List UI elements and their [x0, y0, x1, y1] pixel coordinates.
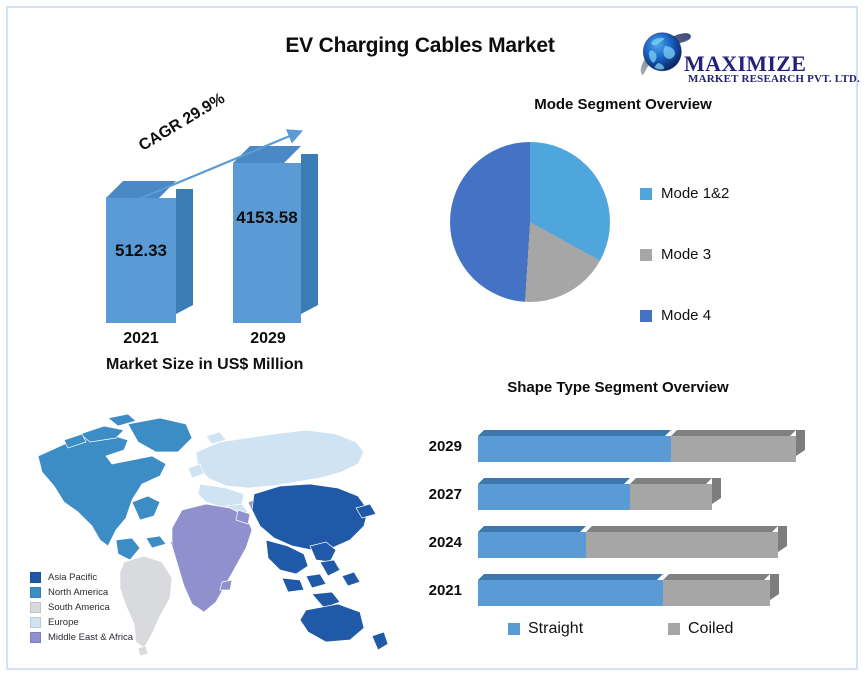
map-legend-label-north-america: North America	[48, 587, 108, 598]
shape-type-legend: Straight Coiled	[508, 620, 768, 638]
shape-segment-heading: Shape Type Segment Overview	[448, 379, 788, 396]
logo-tagline-text: MARKET RESEARCH PVT. LTD.	[688, 73, 860, 85]
stacked-seg-2029-coiled	[671, 436, 796, 462]
legend-swatch-mode-1-2	[640, 188, 652, 200]
stacked-row-2024-label: 2024	[416, 534, 462, 551]
stacked-seg-2029-straight	[478, 436, 671, 462]
stacked-cap-2021	[770, 574, 779, 600]
map-legend-swatch-middle-east-africa	[30, 632, 41, 643]
legend-label-coiled: Coiled	[688, 620, 733, 638]
map-region-north-america	[38, 414, 192, 560]
map-legend-item-north-america: North America	[30, 585, 180, 600]
map-legend-swatch-north-america	[30, 587, 41, 598]
legend-label-mode-1-2: Mode 1&2	[661, 185, 729, 202]
map-legend-item-south-america: South America	[30, 600, 180, 615]
bar-2029-category: 2029	[229, 330, 307, 348]
map-legend-label-middle-east-africa: Middle East & Africa	[48, 632, 133, 643]
page-title: EV Charging Cables Market	[270, 34, 570, 58]
stacked-row-2029-label: 2029	[416, 438, 462, 455]
stacked-seg-2027-straight	[478, 484, 630, 510]
bar-2021-value: 512.33	[102, 241, 180, 261]
map-legend-swatch-europe	[30, 617, 41, 628]
infographic-frame: EV Charging Cables Market	[6, 6, 858, 670]
stacked-cap-2024	[778, 526, 787, 552]
shape-type-stacked-bar-chart: 2029 2027	[416, 420, 816, 610]
map-legend: Asia Pacific North America South America…	[30, 570, 180, 645]
stacked-row-2027: 2027	[416, 478, 816, 512]
legend-item-mode-1-2: Mode 1&2	[640, 163, 780, 224]
stacked-seg-2024-straight	[478, 532, 586, 558]
legend-label-mode-3: Mode 3	[661, 246, 711, 263]
stacked-row-2027-label: 2027	[416, 486, 462, 503]
stacked-row-2021: 2021	[416, 574, 816, 608]
map-legend-label-south-america: South America	[48, 602, 110, 613]
market-size-axis-label: Market Size in US$ Million	[106, 356, 303, 374]
legend-swatch-coiled	[668, 623, 680, 635]
map-legend-swatch-asia-pacific	[30, 572, 41, 583]
map-legend-item-middle-east-africa: Middle East & Africa	[30, 630, 180, 645]
mode-segment-pie-chart	[450, 142, 610, 302]
legend-swatch-mode-3	[640, 249, 652, 261]
legend-swatch-straight	[508, 623, 520, 635]
market-size-bar-chart: 512.33 2021 4153.58 2029	[68, 123, 388, 363]
stacked-row-2024: 2024	[416, 526, 816, 560]
cagr-arrow-icon	[92, 123, 322, 218]
stacked-seg-2024-coiled	[586, 532, 778, 558]
map-legend-label-europe: Europe	[48, 617, 79, 628]
legend-swatch-mode-4	[640, 310, 652, 322]
legend-item-coiled: Coiled	[668, 620, 733, 638]
legend-label-mode-4: Mode 4	[661, 307, 711, 324]
stacked-row-2029: 2029	[416, 430, 816, 464]
bar-2021-category: 2021	[102, 330, 180, 348]
mode-segment-heading: Mode Segment Overview	[473, 96, 773, 113]
legend-item-straight: Straight	[508, 620, 668, 638]
stacked-seg-2021-coiled	[663, 580, 770, 606]
company-logo: MAXIMIZE MARKET RESEARCH PVT. LTD.	[636, 26, 851, 88]
stacked-cap-2029	[796, 430, 805, 456]
stacked-row-2021-label: 2021	[416, 582, 462, 599]
legend-label-straight: Straight	[528, 620, 583, 638]
map-region-asia-pacific	[252, 484, 388, 650]
legend-item-mode-4: Mode 4	[640, 285, 780, 346]
stacked-seg-2027-coiled	[630, 484, 712, 510]
map-legend-item-europe: Europe	[30, 615, 180, 630]
mode-segment-legend: Mode 1&2 Mode 3 Mode 4	[640, 163, 780, 346]
map-legend-swatch-south-america	[30, 602, 41, 613]
map-legend-item-asia-pacific: Asia Pacific	[30, 570, 180, 585]
map-legend-label-asia-pacific: Asia Pacific	[48, 572, 97, 583]
stacked-seg-2021-straight	[478, 580, 663, 606]
stacked-cap-2027	[712, 478, 721, 504]
legend-item-mode-3: Mode 3	[640, 224, 780, 285]
